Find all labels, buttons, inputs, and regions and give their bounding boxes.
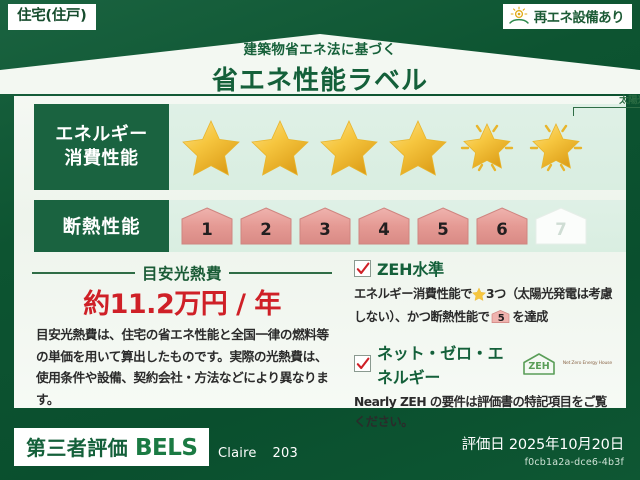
checkbox-net-zero-energy[interactable] [354,355,371,372]
building-type-tag: 住宅(住戸) [8,4,96,30]
star-with-rays-icon [524,116,588,178]
evaluation-date: 評価日 2025年10月20日 [462,433,624,454]
energy-row-label-line2: 消費性能 [65,147,139,171]
sun-renewable-icon [508,6,530,26]
check-description-zeh-standard: エネルギー消費性能で3つ（太陽光発電は考慮しない）、かつ断熱性能で5を達成 [354,284,612,328]
insulation-level-cell: 2 [238,206,294,246]
svg-text:ZEH: ZEH [528,361,549,372]
energy-performance-label: 住宅(住戸) 再エネ設備あり 建築物省エネ法に基づく 省エネ性能ラベル [0,0,640,480]
rule-left [32,272,135,274]
evaluation-badge-en: BELS [135,435,197,461]
energy-row-label: エネルギー 消費性能 [34,104,169,190]
check-block-zeh-standard: ZEH水準 エネルギー消費性能で3つ（太陽光発電は考慮しない）、かつ断熱性能で5… [354,256,612,328]
insulation-level-cell: 1 [179,206,235,246]
rule-right [229,272,332,274]
energy-performance-row: エネルギー 消費性能 [14,104,626,190]
footer-evaluation-meta: 評価日 2025年10月20日 f0cb1a2a-dce6-4b3f [462,433,624,468]
energy-star-rating: 太陽光発電(自家消費)分 [169,104,626,190]
star-icon [181,118,241,176]
insulation-level-number: 1 [201,220,212,246]
insulation-level-scale: 1 2 3 4 [169,200,626,252]
evaluation-uid: f0cb1a2a-dce6-4b3f [462,457,624,468]
star-item [384,108,452,186]
star-with-rays-icon [455,116,519,178]
utility-cost-note: 目安光熱費は、住宅の省エネ性能と全国一律の燃料等の単価を用いて算出したものです。… [36,324,334,411]
certification-checks: ZEH水準 エネルギー消費性能で3つ（太陽光発電は考慮しない）、かつ断熱性能で5… [354,256,612,445]
utility-cost-value: 約11.2万円 / 年 [32,282,332,321]
insulation-level-cell: 3 [297,206,353,246]
star-item [177,108,245,186]
solar-annotation-bracket [573,107,640,116]
label-heading: 建築物省エネ法に基づく 省エネ性能ラベル [0,38,640,97]
footer-owner-info: Claire 203 [218,446,298,461]
inline-insulation-badge: 5 [491,309,510,324]
owner-name: Claire [218,446,257,461]
inline-badge-number: 5 [491,311,510,328]
insulation-level-number: 2 [260,220,271,246]
check-description-net-zero-energy: Nearly ZEH の要件は評価書の特記項目をご覧ください。 [354,392,612,433]
star-item [315,108,383,186]
heading-title: 省エネ性能ラベル [0,60,640,97]
zeh-logo-subtext: Net Zero Energy House [563,361,612,366]
energy-row-label-line1: エネルギー [55,123,148,147]
renewable-badge-label: 再エネ設備あり [534,6,624,26]
zeh-house-logo: ZEH [521,352,557,376]
star-icon [319,118,379,176]
insulation-level-number: 7 [555,220,566,246]
check-label-zeh-standard: ZEH水準 [377,256,444,280]
star-item-solar [453,108,521,186]
label-body-card: エネルギー 消費性能 [14,96,626,408]
insulation-level-cell: 6 [474,206,530,246]
insulation-row-label: 断熱性能 [34,200,169,252]
star-item-solar [522,108,590,186]
room-number: 203 [273,446,298,461]
third-party-evaluation-badge: 第三者評価 BELS [14,428,209,466]
star-item [246,108,314,186]
heading-subtitle: 建築物省エネ法に基づく [0,38,640,58]
desc-segment-1: エネルギー消費性能で [354,287,472,301]
desc-segment-3: を達成 [512,310,547,324]
star-icon [250,118,310,176]
insulation-level-cell-empty: 7 [533,206,589,246]
checkbox-zeh-standard[interactable] [354,260,371,277]
star-icon [472,290,486,304]
insulation-performance-row: 断熱性能 1 [14,200,626,252]
check-block-net-zero-energy: ネット・ゼロ・エネルギー ZEH Net Zero Energy House N… [354,340,612,433]
insulation-level-cell: 5 [415,206,471,246]
insulation-level-number: 4 [378,220,389,246]
check-label-net-zero-energy: ネット・ゼロ・エネルギー [377,340,515,388]
utility-cost-heading-text: 目安光熱費 [142,262,222,284]
insulation-level-number: 3 [319,220,330,246]
star-icon [388,118,448,176]
check-title-row: ネット・ゼロ・エネルギー ZEH Net Zero Energy House [354,340,612,388]
evaluation-badge-jp: 第三者評価 [26,432,128,461]
insulation-level-number: 5 [437,220,448,246]
utility-cost-heading: 目安光熱費 [32,262,332,284]
insulation-level-number: 6 [496,220,507,246]
insulation-level-cell: 4 [356,206,412,246]
check-title-row: ZEH水準 [354,256,612,280]
renewable-equipment-badge: 再エネ設備あり [503,4,632,29]
